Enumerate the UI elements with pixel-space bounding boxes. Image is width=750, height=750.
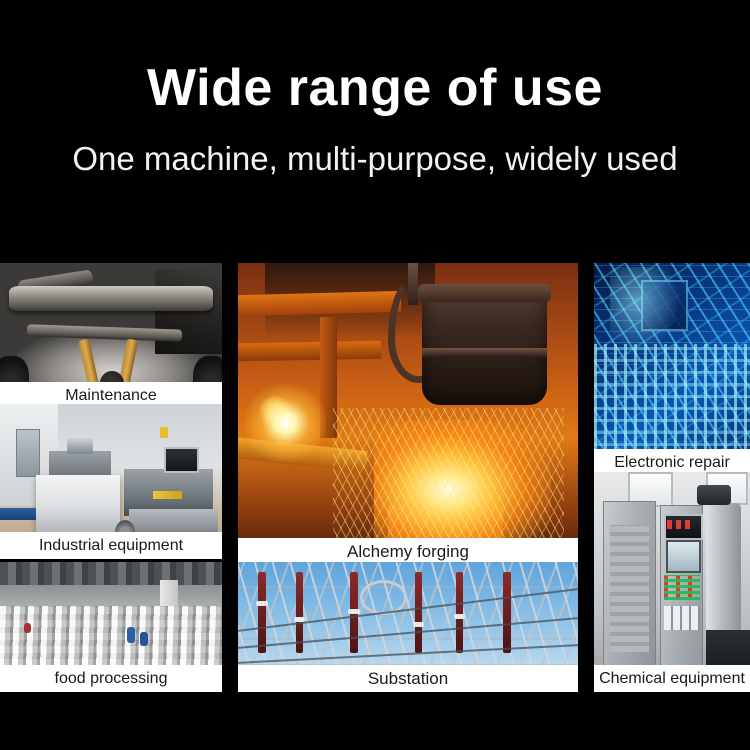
- insulator-cap-3: [348, 609, 360, 614]
- gallery-caption: Industrial equipment: [0, 532, 222, 559]
- gallery-item-substation[interactable]: Substation: [238, 562, 578, 692]
- yellow-warning-sign: [160, 427, 168, 438]
- gallery-item-chemical-equipment[interactable]: Chemical equipment: [594, 472, 750, 692]
- blue-worktable: [0, 508, 36, 520]
- gallery-caption: Alchemy forging: [238, 538, 578, 565]
- machine-monitor: [164, 447, 199, 473]
- insulator-column-1: [258, 572, 265, 653]
- insulator-column-6: [503, 572, 510, 653]
- gallery-caption: Substation: [238, 665, 578, 692]
- process-tank: [706, 503, 740, 644]
- steel-girder-1: [238, 291, 401, 316]
- secondary-glow: [245, 384, 327, 463]
- catalytic-converter: [9, 286, 213, 311]
- worker-red-uniform: [24, 623, 31, 633]
- yellow-control-strip: [153, 491, 182, 499]
- worker-blue-uniform-2: [140, 632, 148, 646]
- gallery-item-electronic-repair[interactable]: Electronic repair: [594, 263, 750, 476]
- operator-screen: [666, 540, 701, 573]
- insulator-column-5: [456, 572, 463, 653]
- ladle-rim: [418, 284, 551, 302]
- machine-door-panel: [16, 429, 40, 478]
- gallery-item-maintenance[interactable]: Maintenance: [0, 263, 222, 409]
- ladle-band: [422, 348, 548, 357]
- spark-shower: [333, 408, 564, 559]
- header-banner: Wide range of use One machine, multi-pur…: [0, 0, 750, 255]
- insulator-cap-4: [413, 622, 425, 627]
- gallery-caption: Chemical equipment: [594, 665, 750, 692]
- image-gallery: Maintenance Industrial equipment: [0, 255, 750, 705]
- gallery-item-food-processing[interactable]: food processing: [0, 562, 222, 692]
- cnc-spindle-head: [67, 438, 94, 454]
- chemical-equipment-photo: [594, 472, 750, 692]
- insulator-cap-1: [256, 601, 268, 606]
- ceiling-ducts: [0, 562, 222, 585]
- gallery-caption: food processing: [0, 665, 222, 692]
- cabinet-vent-panel: [610, 525, 649, 653]
- cnc-machine-left-column: [49, 451, 111, 479]
- gallery-item-industrial-equipment[interactable]: Industrial equipment: [0, 404, 222, 559]
- cnc-machine-left: [36, 475, 120, 534]
- insulator-cap-5: [454, 614, 466, 619]
- electronic-repair-photo: [594, 263, 750, 476]
- status-led-array: [664, 575, 700, 599]
- page-subtitle: One machine, multi-purpose, widely used: [0, 139, 750, 179]
- alchemy-forging-photo: [238, 263, 578, 565]
- cnc-machine-right-base: [129, 509, 218, 534]
- gallery-item-alchemy-forging[interactable]: Alchemy forging: [238, 263, 578, 565]
- steel-girder-2: [238, 340, 381, 361]
- worker-blue-uniform-1: [127, 627, 136, 643]
- tank-motor-assembly: [697, 485, 731, 505]
- control-button-grid: [664, 606, 700, 630]
- board-highlight: [610, 267, 680, 352]
- digital-readout: [667, 520, 694, 529]
- page-title: Wide range of use: [0, 58, 750, 118]
- insulator-column-4: [415, 572, 422, 653]
